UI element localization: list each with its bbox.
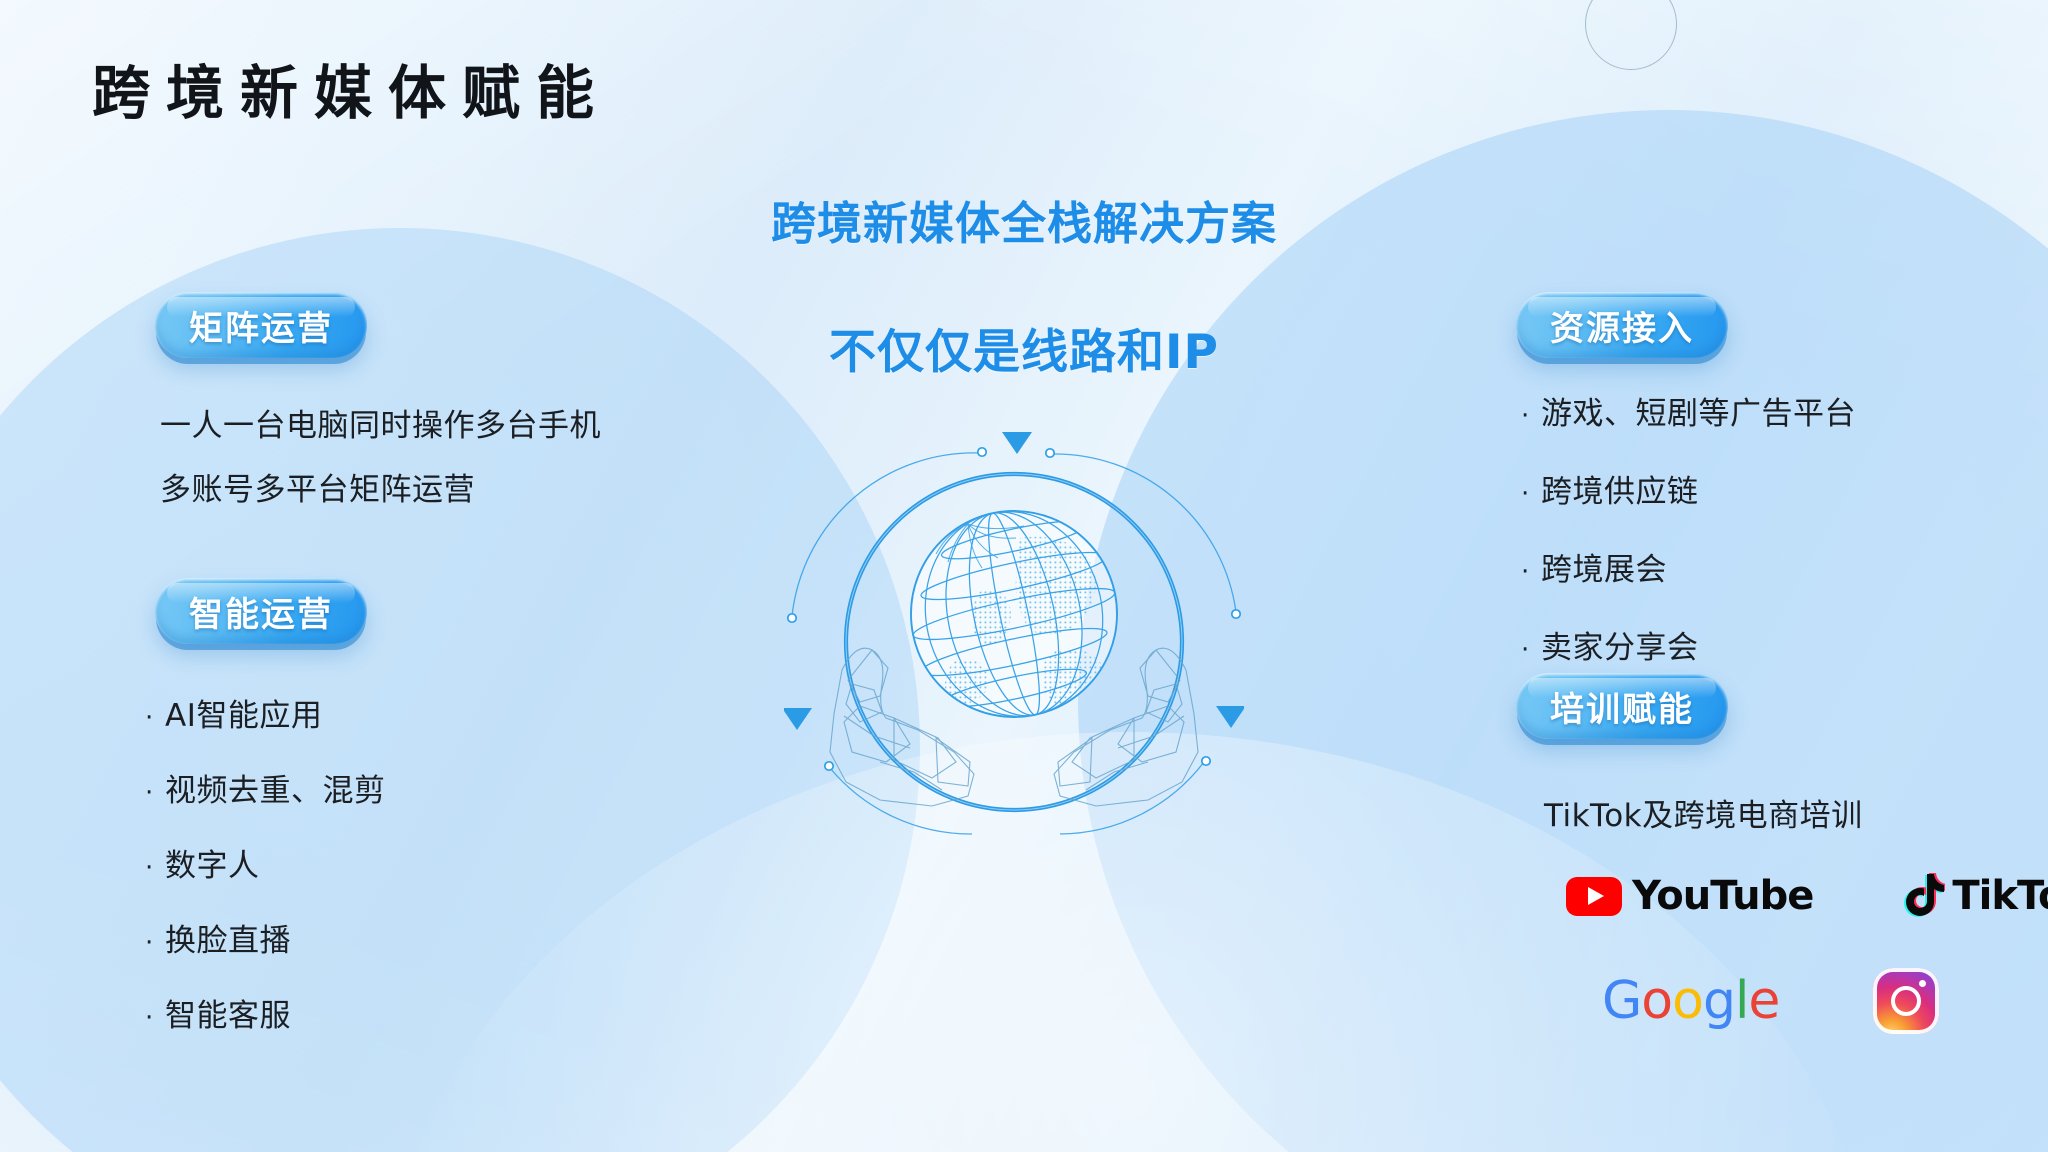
list-item: · 视频去重、混剪 (145, 765, 386, 810)
youtube-logo[interactable]: YouTube (1566, 873, 1813, 919)
list-item-label: 视频去重、混剪 (165, 765, 386, 810)
logo-row-top: YouTube TikTok (1566, 873, 2048, 919)
google-wordmark: Google (1602, 971, 1779, 1031)
tiktok-wordmark: TikTok (1952, 873, 2048, 919)
bullet-dot-icon: · (145, 928, 165, 958)
tiktok-note-icon (1901, 873, 1945, 919)
list-item-label: 智能客服 (165, 990, 291, 1035)
list-item: · 换脸直播 (145, 915, 386, 960)
instagram-camera-icon (1873, 968, 1939, 1034)
list-item-label: AI智能应用 (165, 690, 322, 735)
list-item-label: 卖家分享会 (1541, 622, 1699, 667)
matrix-description-line-2: 多账号多平台矩阵运营 (160, 464, 475, 509)
triangle-marker-left (784, 708, 812, 730)
list-item-label: 跨境展会 (1541, 544, 1667, 589)
pill-smart-operation[interactable]: 智能运营 (155, 578, 367, 644)
bullet-dot-icon: · (145, 853, 165, 883)
list-item: · 智能客服 (145, 990, 386, 1035)
bullet-dot-icon: · (145, 1003, 165, 1033)
list-item-label: 游戏、短剧等广告平台 (1541, 388, 1856, 433)
google-logo[interactable]: Google (1602, 971, 1779, 1031)
youtube-play-icon (1566, 877, 1622, 916)
list-item: · AI智能应用 (145, 690, 386, 735)
list-item: · 跨境展会 (1521, 544, 1856, 589)
instagram-flash-dot-icon (1919, 980, 1926, 987)
triangle-marker-right (1216, 706, 1244, 728)
pill-training-empowerment[interactable]: 培训赋能 (1516, 673, 1728, 739)
headline-primary: 跨境新媒体全栈解决方案 (0, 187, 2048, 252)
bullet-dot-icon: · (1521, 401, 1541, 431)
training-description: TikTok及跨境电商培训 (1544, 790, 1863, 835)
logo-row-bottom: Google (1602, 968, 1939, 1034)
list-item-label: 数字人 (165, 840, 260, 885)
globe-in-hands-illustration (784, 416, 1244, 856)
list-item: · 游戏、短剧等广告平台 (1521, 388, 1856, 433)
instagram-logo[interactable] (1873, 968, 1939, 1034)
list-item: · 卖家分享会 (1521, 622, 1856, 667)
instagram-lens-icon (1891, 986, 1921, 1016)
pill-resource-access[interactable]: 资源接入 (1516, 292, 1728, 358)
youtube-wordmark: YouTube (1632, 873, 1813, 919)
decorative-ring-outline (1585, 0, 1677, 70)
list-item-label: 换脸直播 (165, 915, 291, 960)
pill-resource-access-label: 资源接入 (1550, 301, 1694, 350)
tiktok-logo[interactable]: TikTok (1901, 873, 2048, 919)
bullet-dot-icon: · (1521, 635, 1541, 665)
bullet-dot-icon: · (1521, 557, 1541, 587)
bullet-dot-icon: · (145, 778, 165, 808)
bullet-dot-icon: · (145, 703, 165, 733)
list-item: · 跨境供应链 (1521, 466, 1856, 511)
resource-access-list: · 游戏、短剧等广告平台 · 跨境供应链 · 跨境展会 · 卖家分享会 (1521, 388, 1856, 700)
pill-smart-operation-label: 智能运营 (189, 587, 333, 636)
pill-matrix-operation-label: 矩阵运营 (189, 301, 333, 350)
triangle-marker-top (1002, 432, 1032, 454)
matrix-description-line-1: 一人一台电脑同时操作多台手机 (160, 400, 601, 445)
pill-matrix-operation[interactable]: 矩阵运营 (155, 292, 367, 358)
bullet-dot-icon: · (1521, 479, 1541, 509)
page-title: 跨境新媒体赋能 (92, 46, 610, 130)
pill-training-empowerment-label: 培训赋能 (1550, 682, 1694, 731)
list-item: · 数字人 (145, 840, 386, 885)
list-item-label: 跨境供应链 (1541, 466, 1699, 511)
smart-operation-list: · AI智能应用 · 视频去重、混剪 · 数字人 · 换脸直播 · 智能客服 (145, 690, 386, 1065)
slide-canvas: 跨境新媒体赋能 跨境新媒体全栈解决方案 不仅仅是线路和IP (0, 0, 2048, 1152)
